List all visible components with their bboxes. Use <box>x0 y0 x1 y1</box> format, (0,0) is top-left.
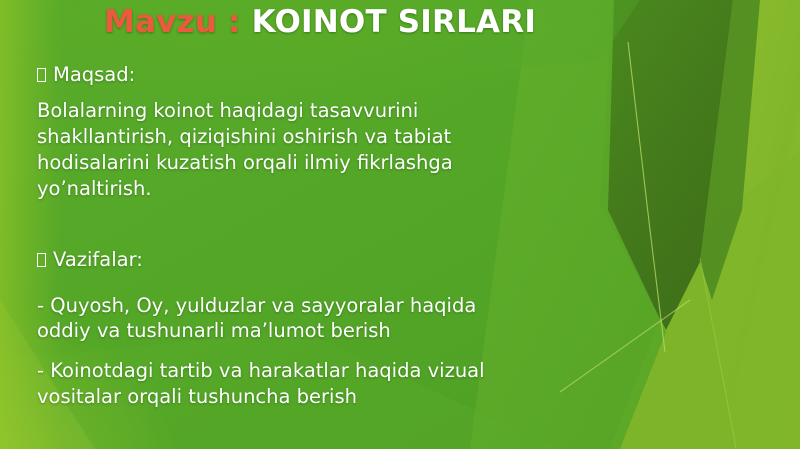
title-topic-name: KOINOT SIRLARI <box>252 4 536 40</box>
vazifalar-bullet-1-line-2: oddiy va tushunarli ma’lumot berish <box>37 318 597 344</box>
slide-canvas: Mavzu : KOINOT SIRLARI Maqsad: Bolalarni… <box>0 0 800 449</box>
maqsad-line-2: shakllantirish, qiziqishini oshirish va … <box>37 124 597 150</box>
vazifalar-bullet-1: - Quyosh, Oy, yulduzlar va sayyoralar ha… <box>37 293 597 345</box>
missing-glyph-box-icon <box>37 253 46 267</box>
maqsad-line-4: yo’naltirish. <box>37 176 597 202</box>
missing-glyph-box-icon <box>37 68 46 82</box>
section-heading-vazifalar: Vazifalar: <box>37 247 597 273</box>
vazifalar-bullet-2-line-1: - Koinotdagi tartib va harakatlar haqida… <box>37 358 597 384</box>
section-heading-maqsad: Maqsad: <box>37 62 597 88</box>
vazifalar-bullet-2-line-2: vositalar orqali tushuncha berish <box>37 384 597 410</box>
slide-body: Maqsad: Bolalarning koinot haqidagi tasa… <box>37 62 597 410</box>
bullet-spacer <box>37 283 597 293</box>
section-heading-vazifalar-label: Vazifalar: <box>53 248 143 271</box>
maqsad-line-1: Bolalarning koinot haqidagi tasavvurini <box>37 98 597 124</box>
vazifalar-bullet-2: - Koinotdagi tartib va harakatlar haqida… <box>37 358 597 410</box>
maqsad-line-3: hodisalarini kuzatish orqali ilmiy fikrl… <box>37 150 597 176</box>
slide-title: Mavzu : KOINOT SIRLARI <box>0 4 640 40</box>
vazifalar-bullet-1-line-1: - Quyosh, Oy, yulduzlar va sayyoralar ha… <box>37 293 597 319</box>
section-spacer <box>37 202 597 247</box>
slide-content: Mavzu : KOINOT SIRLARI Maqsad: Bolalarni… <box>0 0 800 449</box>
bullet-spacer <box>37 344 597 358</box>
section-heading-maqsad-label: Maqsad: <box>53 63 135 86</box>
maqsad-paragraph: Bolalarning koinot haqidagi tasavvurini … <box>37 98 597 202</box>
title-topic-label: Mavzu : <box>104 4 241 40</box>
